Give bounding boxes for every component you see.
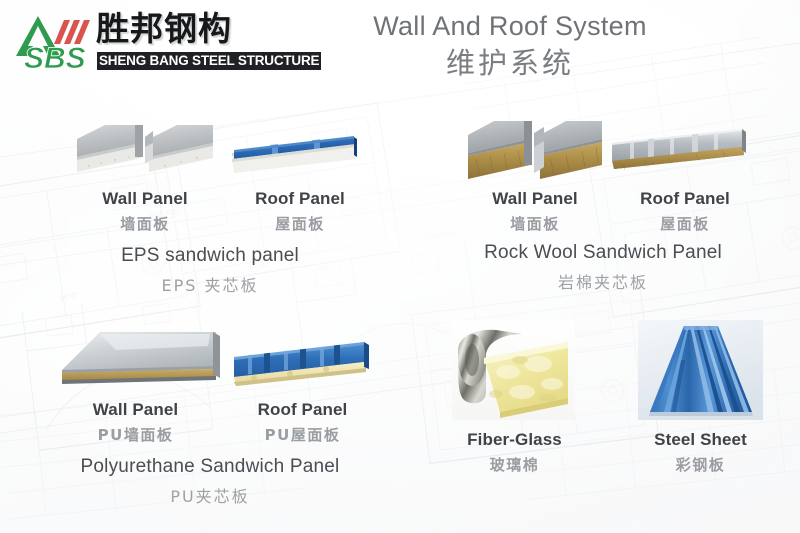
eps-roof-panel-image <box>228 123 358 181</box>
fiber-glass-roll-image <box>452 320 575 420</box>
pu-wall-panel-image <box>58 322 223 394</box>
rockwool-wall-label-en: Wall Panel <box>450 189 620 209</box>
title-english: Wall And Roof System <box>300 8 720 44</box>
rockwool-roof-label-en: Roof Panel <box>600 189 770 209</box>
eps-group-label-en: EPS sandwich panel <box>30 245 390 267</box>
eps-wall-label-en: Wall Panel <box>60 189 230 209</box>
section-polyurethane-sandwich-panel: Wall Panel PU墙面板 Roof Panel PU屋面板 Polyur… <box>30 312 400 502</box>
slide-root: GARAGE 18'-0" PLAN SEC A-A DET.3 Family … <box>0 0 800 533</box>
page-title: Wall And Roof System 维护系统 <box>300 8 720 82</box>
eps-roof-label-cn: 屋面板 <box>215 213 385 234</box>
pu-roof-panel-image <box>230 332 370 394</box>
rockwool-roof-label-cn: 屋面板 <box>600 213 770 234</box>
svg-text:SBS: SBS <box>24 42 86 72</box>
section-rockwool-sandwich-panel: Wall Panel 墙面板 Roof Panel 屋面板 Rock Wool … <box>428 105 788 285</box>
eps-roof-label-en: Roof Panel <box>215 189 385 209</box>
eps-wall-label-cn: 墙面板 <box>60 213 230 234</box>
steel-sheet-label-cn: 彩钢板 <box>628 454 773 475</box>
steel-sheet-image <box>638 320 763 420</box>
pu-wall-label-cn: PU墙面板 <box>48 424 223 445</box>
title-chinese: 维护系统 <box>300 44 720 82</box>
pu-roof-label-cn: PU屋面板 <box>215 424 390 445</box>
fiber-glass-label-cn: 玻璃棉 <box>442 454 587 475</box>
eps-wall-panel-image <box>75 117 215 183</box>
rockwool-wall-panel-image <box>466 115 604 185</box>
logo-brand-cn: 胜邦钢构 <box>96 10 232 48</box>
fiber-glass-label-en: Fiber-Glass <box>442 430 587 450</box>
rockwool-group-label-cn: 岩棉夹芯板 <box>428 269 778 293</box>
steel-sheet-label-en: Steel Sheet <box>628 430 773 450</box>
pu-group-label-en: Polyurethane Sandwich Panel <box>30 456 390 478</box>
logo-brand-en: SHENG BANG STEEL STRUCTURE <box>97 52 321 70</box>
section-materials: Fiber-Glass 玻璃棉 Steel Sheet 彩钢板 <box>430 312 790 502</box>
pu-roof-label-en: Roof Panel <box>215 400 390 420</box>
rockwool-group-label-en: Rock Wool Sandwich Panel <box>428 242 778 264</box>
eps-group-label-cn: EPS 夹芯板 <box>30 272 390 296</box>
section-eps-sandwich-panel: Wall Panel 墙面板 Roof Panel 屋面板 EPS sandwi… <box>30 105 390 285</box>
pu-wall-label-en: Wall Panel <box>48 400 223 420</box>
sbs-logo-icon: SBS <box>8 10 100 72</box>
company-logo[interactable]: SBS 胜邦钢构 SHENG BANG STEEL STRUCTURE <box>8 6 270 78</box>
pu-group-label-cn: PU夹芯板 <box>30 483 390 507</box>
rockwool-wall-label-cn: 墙面板 <box>450 213 620 234</box>
rockwool-roof-panel-image <box>608 117 748 183</box>
